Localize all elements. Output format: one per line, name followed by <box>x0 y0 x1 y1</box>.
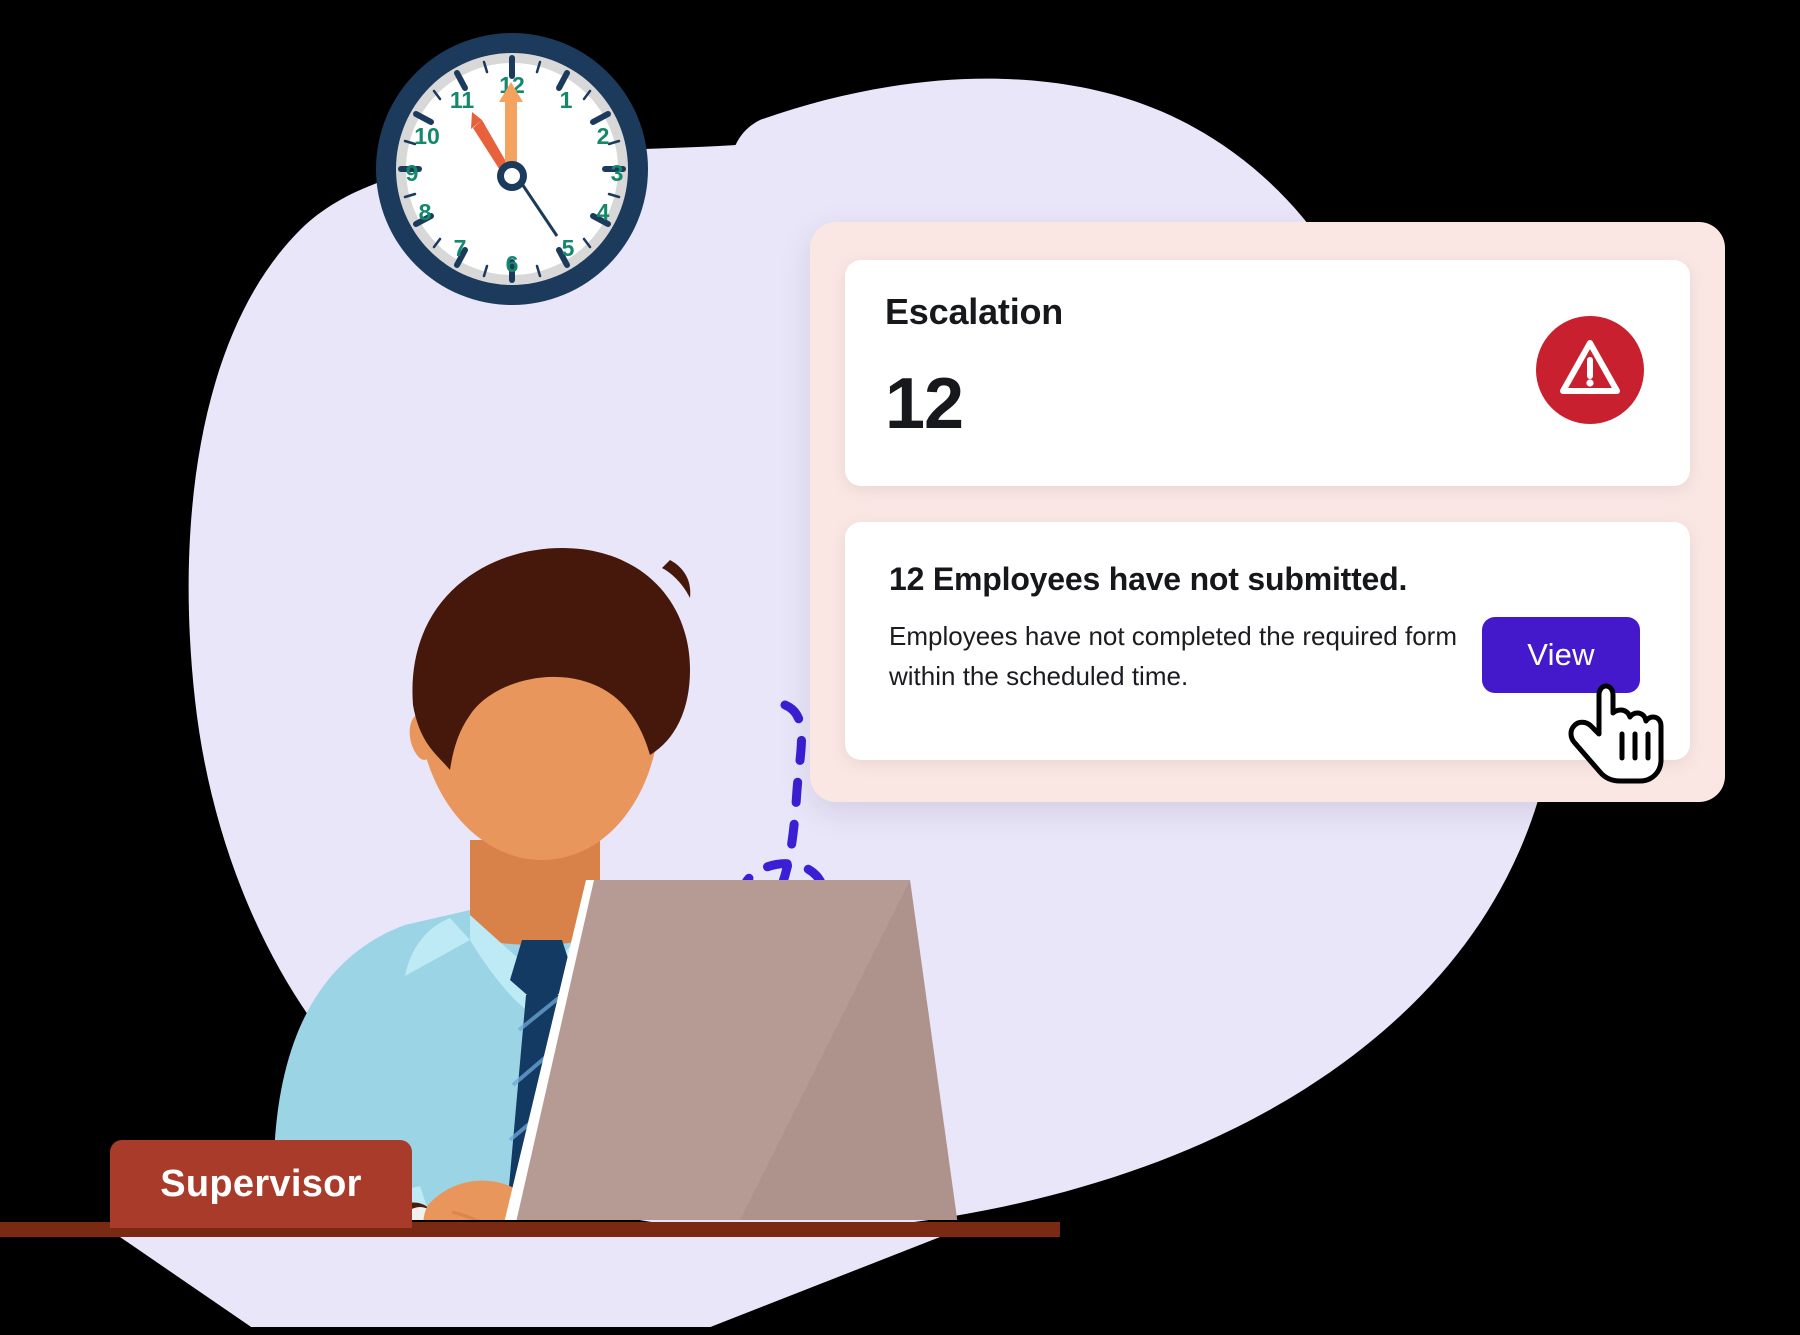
escalation-count-card: Escalation 12 <box>845 260 1690 486</box>
notice-body: Employees have not completed the require… <box>889 617 1529 696</box>
view-button[interactable]: View <box>1482 617 1640 693</box>
svg-text:11: 11 <box>450 87 475 113</box>
svg-text:10: 10 <box>414 123 440 149</box>
escalation-panel: Escalation 12 12 Employees have not subm… <box>810 222 1725 802</box>
supervisor-nameplate-label: Supervisor <box>160 1163 362 1206</box>
warning-triangle-icon <box>1536 316 1644 424</box>
svg-text:2: 2 <box>597 123 610 149</box>
illustration-canvas: 12 1 2 3 4 5 6 7 8 9 10 11 <box>0 0 1800 1335</box>
svg-text:3: 3 <box>611 160 624 186</box>
svg-text:7: 7 <box>454 235 467 261</box>
svg-text:5: 5 <box>562 235 575 261</box>
svg-text:6: 6 <box>506 251 519 277</box>
svg-text:8: 8 <box>419 199 432 225</box>
wall-clock: 12 1 2 3 4 5 6 7 8 9 10 11 <box>372 28 652 310</box>
supervisor-nameplate: Supervisor <box>110 1140 412 1228</box>
svg-text:9: 9 <box>406 160 419 186</box>
svg-text:4: 4 <box>597 199 610 225</box>
svg-text:1: 1 <box>560 87 573 113</box>
notice-card: 12 Employees have not submitted. Employe… <box>845 522 1690 760</box>
notice-heading: 12 Employees have not submitted. <box>889 562 1646 597</box>
